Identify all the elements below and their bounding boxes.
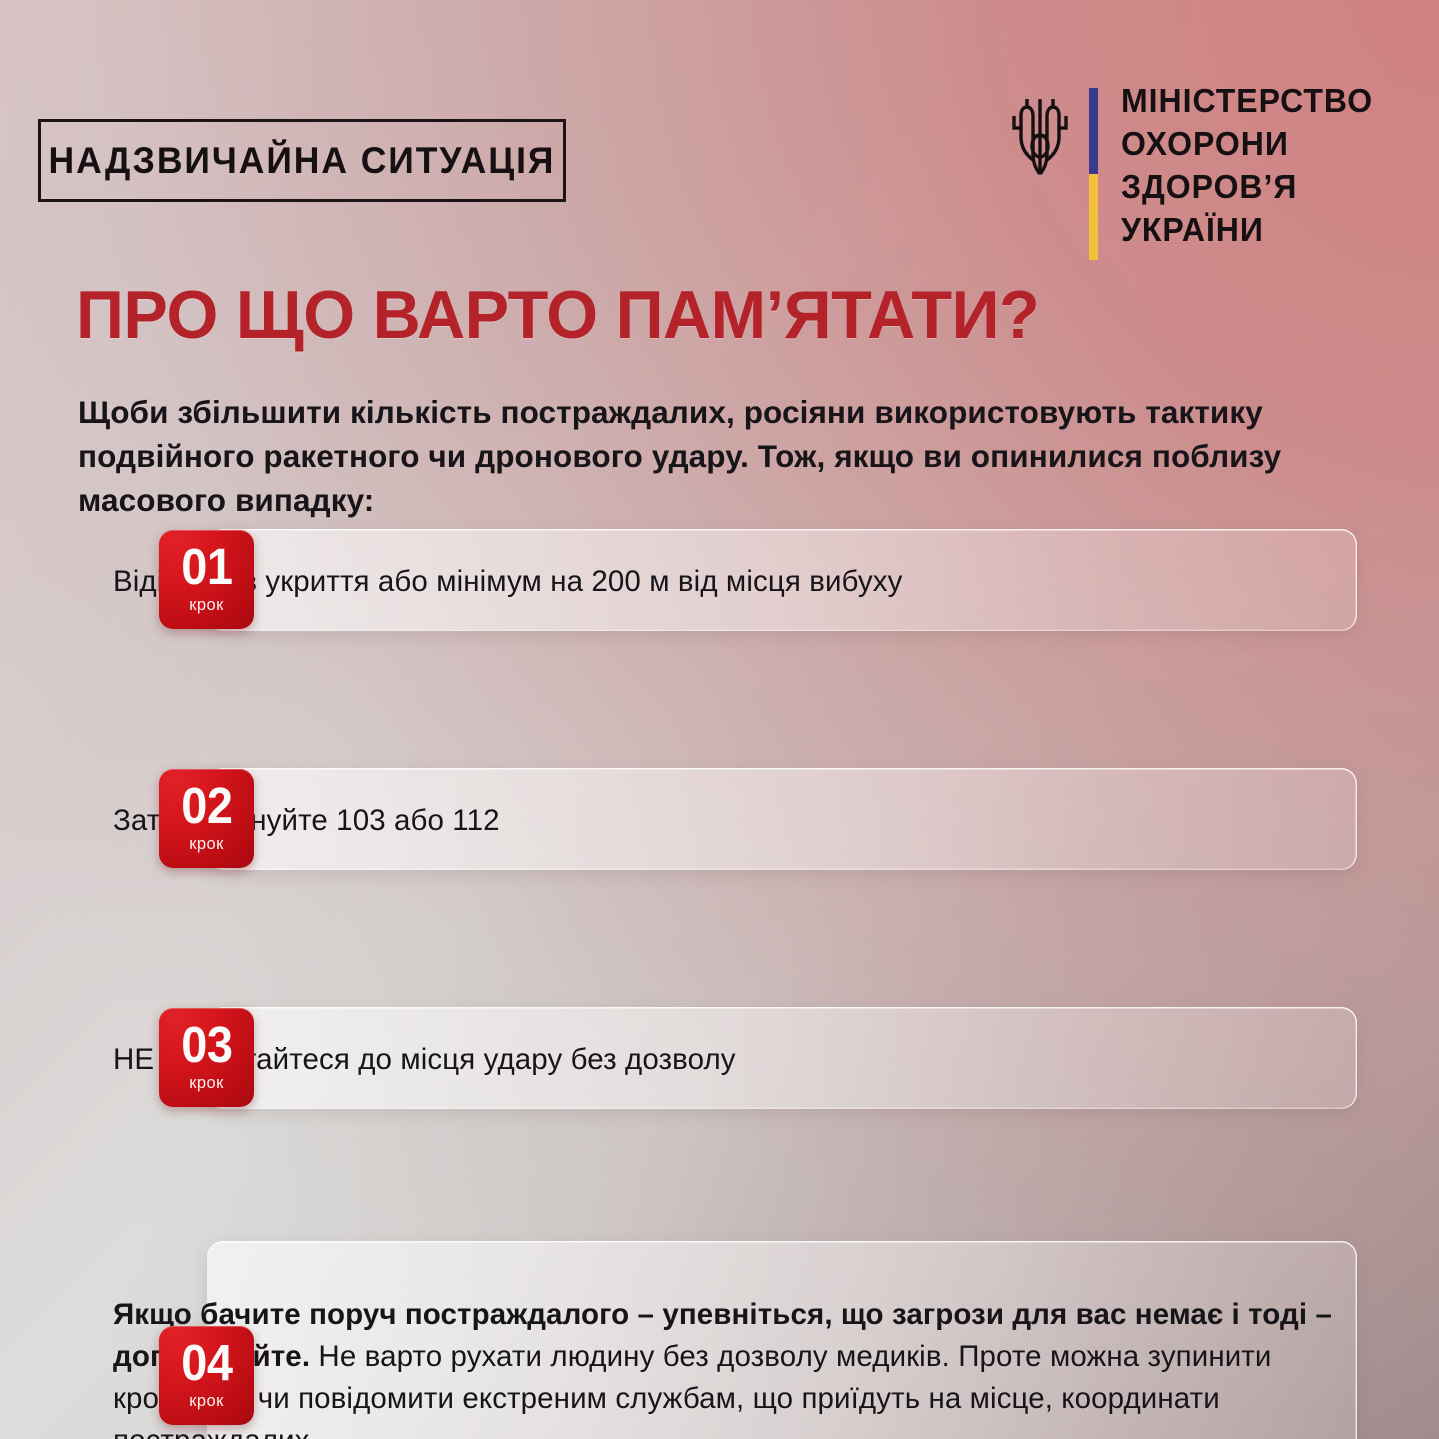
step-number: 03 [181,1023,232,1068]
step-number-badge: 04 крок [159,1326,254,1425]
logo-line-1: МІНІСТЕРСТВО [1121,80,1373,123]
step-number-badge: 03 крок [159,1008,254,1107]
step-word: крок [189,836,223,853]
logo-line-4: УКРАЇНИ [1121,209,1373,252]
logo-line-3: ЗДОРОВ’Я [1121,166,1373,209]
step-number-badge: 01 крок [159,530,254,629]
emergency-situation-label: НАДЗВИЧАЙНА СИТУАЦІЯ [38,119,566,202]
step-text: НЕ повертайтеся до місця удару без дозво… [113,1039,1381,1081]
list-item: 02 крок Зателефонуйте 103 або 112 [0,768,1439,870]
step-word: крок [189,1075,223,1092]
ukraine-trident-icon [1011,90,1069,182]
step-text: Якщо бачите поруч постраждалого – упевні… [113,1294,1381,1439]
ministry-of-health-logo: МІНІСТЕРСТВО ОХОРОНИ ЗДОРОВ’Я УКРАЇНИ [1011,80,1381,260]
ministry-name: МІНІСТЕРСТВО ОХОРОНИ ЗДОРОВ’Я УКРАЇНИ [1121,80,1373,252]
flag-divider-bar [1089,88,1098,260]
steps-list: 01 крок Відійдіть в укриття або мінімум … [0,529,1439,1255]
step-number: 04 [181,1341,232,1386]
step-number-badge: 02 крок [159,769,254,868]
page-title: ПРО ЩО ВАРТО ПАМ’ЯТАТИ? [76,276,1039,354]
list-item: 04 крок Якщо бачите поруч постраждалого … [0,1241,1439,1439]
list-item: 03 крок НЕ повертайтеся до місця удару б… [0,1007,1439,1109]
list-item: 01 крок Відійдіть в укриття або мінімум … [0,529,1439,631]
step-text: Зателефонуйте 103 або 112 [113,800,1381,842]
step-number: 02 [181,784,232,829]
poster-canvas: НАДЗВИЧАЙНА СИТУАЦІЯ [0,0,1439,1439]
intro-paragraph: Щоби збільшити кількість постраждалих, р… [78,390,1294,522]
emergency-situation-text: НАДЗВИЧАЙНА СИТУАЦІЯ [49,140,556,182]
step-text: Відійдіть в укриття або мінімум на 200 м… [113,561,1381,603]
step-number: 01 [181,545,232,590]
step-word: крок [189,1393,223,1410]
step-word: крок [189,597,223,614]
logo-line-2: ОХОРОНИ [1121,123,1373,166]
